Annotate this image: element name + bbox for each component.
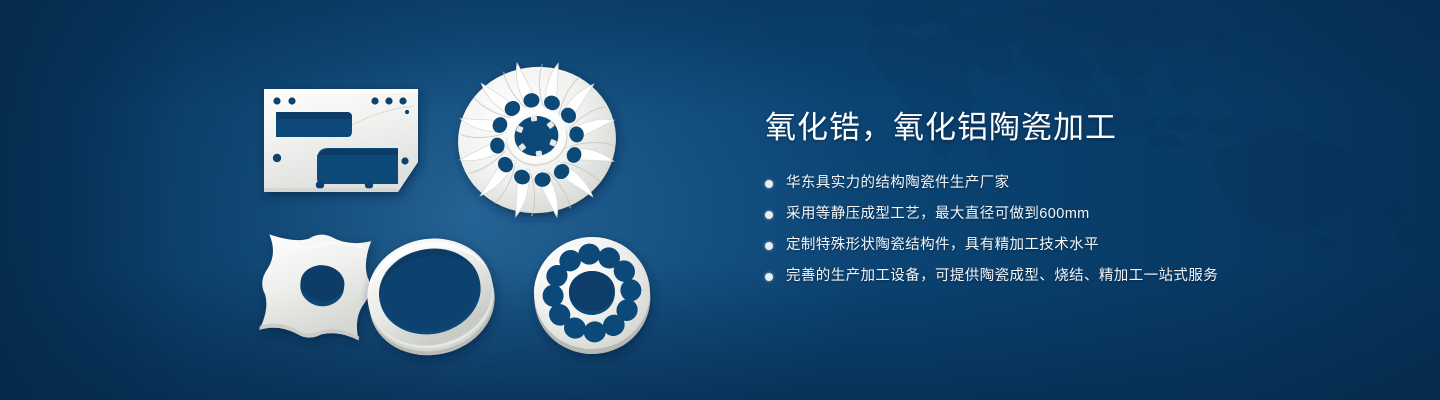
bullet-dot-icon bbox=[765, 180, 773, 188]
bullet-dot-icon bbox=[765, 242, 773, 250]
product-ceramic-valve-plate bbox=[530, 233, 654, 358]
banner-feature-list: 华东具实力的结构陶瓷件生产厂家 采用等静压成型工艺，最大直径可做到600mm 定… bbox=[765, 172, 1405, 288]
bullet-dot-icon bbox=[765, 211, 773, 219]
banner-headline: 氧化锆，氧化铝陶瓷加工 bbox=[765, 108, 1405, 148]
product-ceramic-plate bbox=[264, 89, 418, 192]
products-svg bbox=[0, 0, 760, 400]
bullet-text: 定制特殊形状陶瓷结构件，具有精加工技术水平 bbox=[786, 234, 1099, 257]
bullet-dot-icon bbox=[765, 273, 773, 281]
product-ceramic-star-rotor bbox=[257, 229, 375, 344]
list-item: 采用等静压成型工艺，最大直径可做到600mm bbox=[765, 203, 1405, 226]
product-ceramic-ring bbox=[357, 227, 504, 367]
banner-copy: 氧化锆，氧化铝陶瓷加工 华东具实力的结构陶瓷件生产厂家 采用等静压成型工艺，最大… bbox=[765, 108, 1405, 296]
bullet-text: 采用等静压成型工艺，最大直径可做到600mm bbox=[786, 203, 1090, 226]
hero-banner: 氧化锆，氧化铝陶瓷加工 华东具实力的结构陶瓷件生产厂家 采用等静压成型工艺，最大… bbox=[0, 0, 1440, 400]
list-item: 定制特殊形状陶瓷结构件，具有精加工技术水平 bbox=[765, 234, 1405, 257]
list-item: 完善的生产加工设备，可提供陶瓷成型、烧结、精加工一站式服务 bbox=[765, 265, 1405, 288]
list-item: 华东具实力的结构陶瓷件生产厂家 bbox=[765, 172, 1405, 195]
product-images-group bbox=[0, 0, 760, 400]
product-ceramic-impeller bbox=[448, 51, 626, 229]
bullet-text: 华东具实力的结构陶瓷件生产厂家 bbox=[786, 172, 1010, 195]
bullet-text: 完善的生产加工设备，可提供陶瓷成型、烧结、精加工一站式服务 bbox=[786, 265, 1218, 288]
